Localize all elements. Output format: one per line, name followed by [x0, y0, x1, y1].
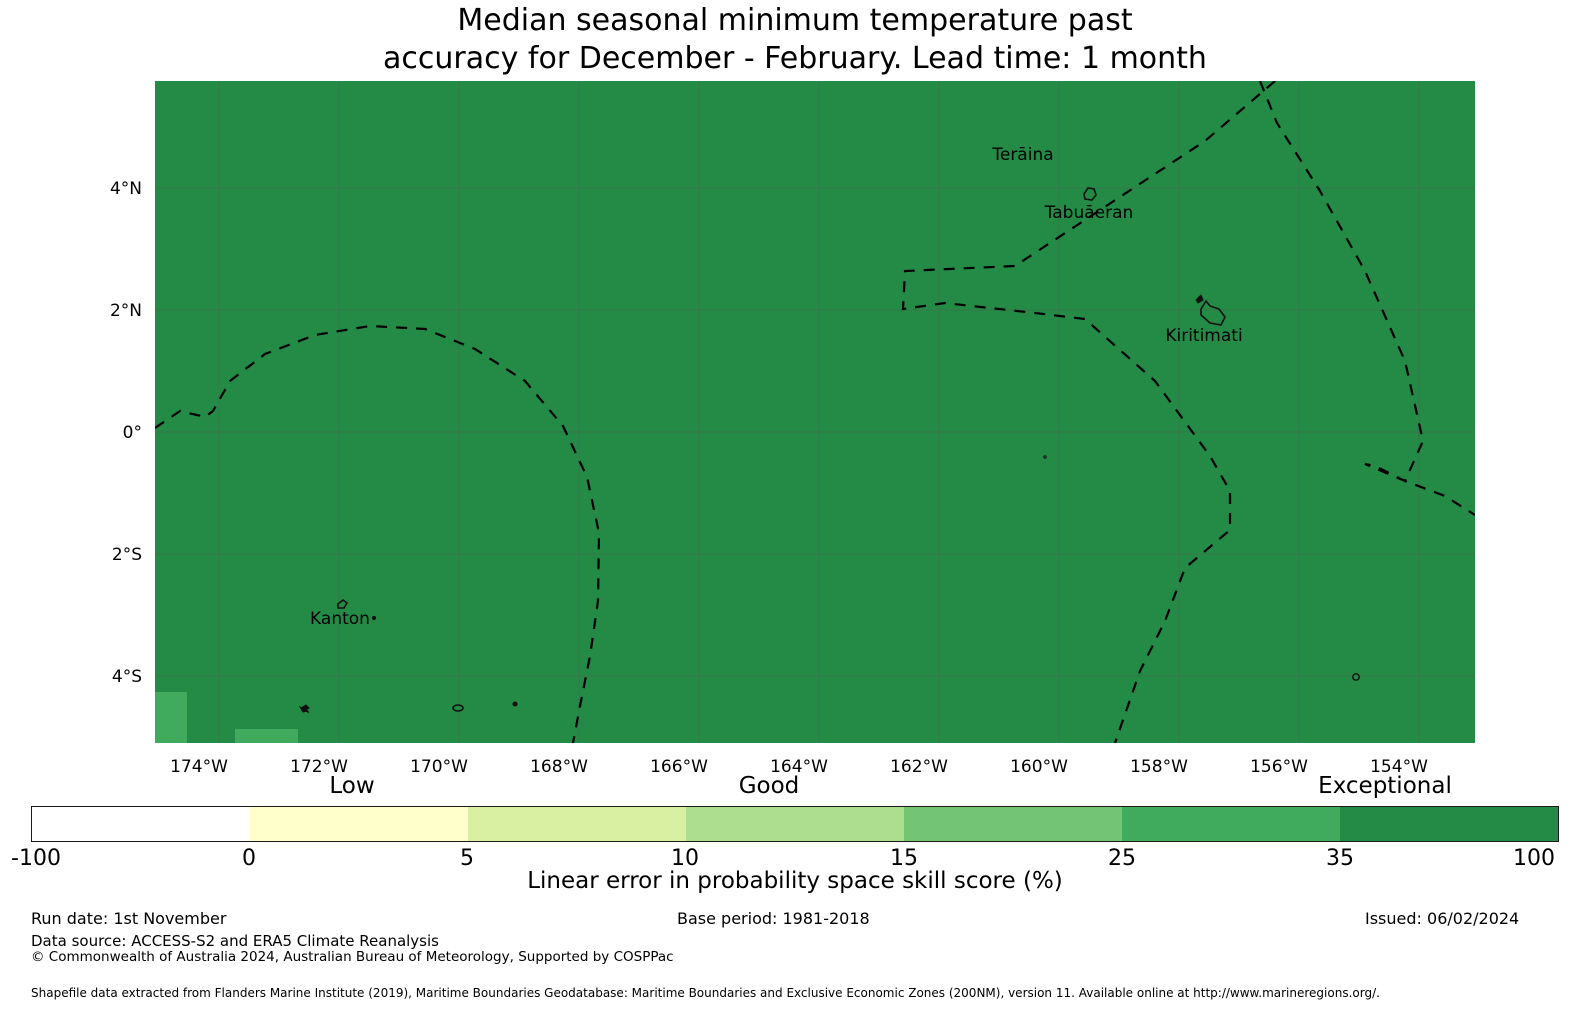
- place-label-kiritimati: Kiritimati: [1165, 326, 1242, 346]
- map-svg: Terāina Tabuāeran Kiritimati Kanton: [155, 81, 1475, 743]
- x-tick-158w: 158°W: [1130, 757, 1188, 777]
- x-tick-168w: 168°W: [530, 757, 588, 777]
- footer-run-date: Run date: 1st November: [31, 909, 226, 928]
- y-tick-4n: 4°N: [90, 179, 142, 199]
- title-line-2: accuracy for December - February. Lead t…: [0, 40, 1590, 78]
- colorbar-segment-0: [32, 807, 250, 841]
- colorbar[interactable]: [31, 806, 1559, 842]
- figure-root: Median seasonal minimum temperature past…: [0, 0, 1590, 1020]
- map-plot-area: Terāina Tabuāeran Kiritimati Kanton: [155, 81, 1475, 743]
- colorbar-category-good: Good: [739, 773, 800, 799]
- colorbar-wrapper: -100 0 5 10 15 25 35 100: [31, 806, 1559, 842]
- colorbar-segment-1: [250, 807, 468, 841]
- footer-shapefile-attribution: Shapefile data extracted from Flanders M…: [31, 986, 1380, 1000]
- place-label-group: Terāina Tabuāeran Kiritimati Kanton: [310, 145, 1243, 629]
- footer-base-period: Base period: 1981-2018: [677, 909, 870, 928]
- place-label-teraina: Terāina: [991, 145, 1053, 165]
- footer-data-source: Data source: ACCESS-S2 and ERA5 Climate …: [31, 932, 439, 950]
- x-tick-166w: 166°W: [650, 757, 708, 777]
- y-tick-4s: 4°S: [90, 667, 142, 687]
- place-label-tabuaeran: Tabuāeran: [1044, 203, 1134, 223]
- x-tick-156w: 156°W: [1250, 757, 1308, 777]
- colorbar-segment-3: [686, 807, 904, 841]
- colorbar-axis-title: Linear error in probability space skill …: [0, 868, 1590, 894]
- x-tick-160w: 160°W: [1010, 757, 1068, 777]
- footer-copyright: © Commonwealth of Australia 2024, Austra…: [31, 949, 674, 965]
- footer-issued-date: Issued: 06/02/2024: [1365, 909, 1519, 928]
- x-tick-162w: 162°W: [890, 757, 948, 777]
- title-line-1: Median seasonal minimum temperature past: [0, 2, 1590, 40]
- y-tick-0: 0°: [90, 423, 142, 443]
- x-tick-174w: 174°W: [170, 757, 228, 777]
- skill-patch-group: [155, 692, 298, 743]
- colorbar-category-exceptional: Exceptional: [1318, 773, 1452, 799]
- y-tick-2s: 2°S: [90, 545, 142, 565]
- x-tick-170w: 170°W: [410, 757, 468, 777]
- y-tick-2n: 2°N: [90, 301, 142, 321]
- page-title: Median seasonal minimum temperature past…: [0, 2, 1590, 78]
- map-gridlines: [155, 81, 1475, 743]
- eez-boundary-lines: [155, 81, 1475, 743]
- colorbar-category-low: Low: [329, 773, 374, 799]
- colorbar-segment-5: [1122, 807, 1340, 841]
- colorbar-segment-2: [468, 807, 686, 841]
- colorbar-segment-4: [904, 807, 1122, 841]
- place-label-kanton: Kanton: [310, 609, 370, 629]
- colorbar-segment-6: [1340, 807, 1558, 841]
